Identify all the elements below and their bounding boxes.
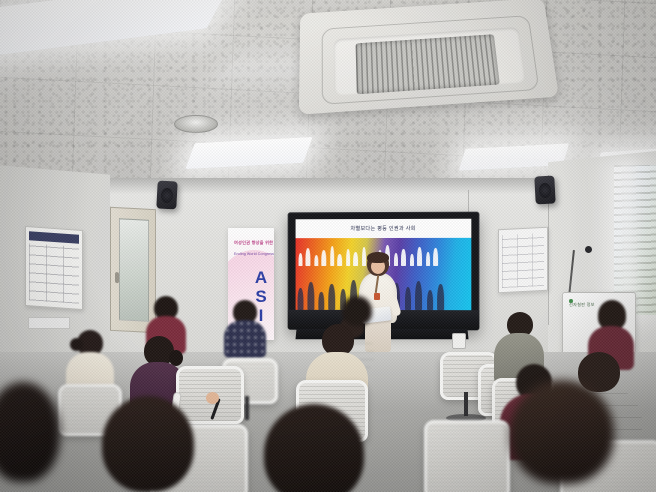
mesh-chair[interactable]: [424, 420, 504, 492]
attendee-polka-dot: [224, 300, 266, 356]
attendee-hair: [102, 396, 194, 492]
banner-korean-text: 여성인권 향상을 위한: [234, 240, 273, 245]
door-handle[interactable]: [115, 272, 119, 283]
attendee-foreground-center: [256, 404, 374, 492]
attendee-hair: [0, 382, 60, 482]
silhouette-figure: [318, 292, 324, 310]
attendee-hair: [342, 296, 372, 326]
notice-table-grid: [502, 233, 544, 288]
silhouette-figure: [415, 281, 422, 310]
recessed-downlight: [174, 115, 218, 133]
presenter-fringe: [367, 252, 389, 263]
silhouette-figure: [337, 254, 342, 266]
ac-grille-icon: [356, 34, 500, 94]
silhouette-figure: [330, 246, 334, 266]
door-glass-panel: [119, 218, 149, 322]
attendee-foreground-right: [496, 380, 616, 492]
information-notice: [498, 227, 548, 294]
banner-english-text: Ending World Congress: [234, 252, 274, 257]
silhouette-figure: [299, 253, 303, 266]
attendee-hand: [206, 392, 219, 404]
silhouette-figure: [314, 255, 318, 266]
attendee-hair: [264, 404, 364, 492]
silhouette-figure: [307, 282, 314, 310]
silhouette-figure: [437, 284, 444, 310]
microphone-icon: [585, 246, 592, 253]
attendee-edge-left: [0, 382, 70, 492]
attendee-foreground-slim: [330, 296, 384, 364]
schedule-poster: [25, 226, 83, 310]
silhouette-figure: [405, 287, 411, 310]
silhouette-figure: [305, 248, 310, 266]
poster-table-grid: [29, 243, 79, 303]
silhouette-figure: [401, 249, 406, 266]
attendee-hair: [510, 380, 614, 484]
seminar-room-photo: 여성인권 향상을 위한 Ending World Congress ASI 차별…: [0, 0, 656, 492]
poster-header-bar: [29, 231, 79, 243]
silhouette-figure: [426, 252, 430, 266]
silhouette-figure: [298, 288, 304, 310]
attendee-clothing: [224, 320, 266, 358]
attendee-foreground-left: [92, 396, 202, 492]
silhouette-figure: [433, 248, 438, 266]
small-notice: [28, 317, 70, 329]
slide-title-bar: 차별보다는 평등 인권과 사회: [296, 219, 472, 238]
power-outlet: [452, 333, 466, 349]
silhouette-figure: [321, 250, 326, 266]
chair-stem: [245, 396, 249, 420]
wall-speaker-icon: [156, 180, 177, 209]
silhouette-figure: [346, 249, 350, 266]
chair-stem: [464, 392, 468, 416]
silhouette-figure: [417, 247, 422, 266]
silhouette-figure: [410, 254, 414, 266]
wall-speaker-icon: [534, 175, 555, 204]
silhouette-figure: [427, 290, 433, 310]
attendee-hair-bun: [70, 338, 83, 351]
slide-title-text: 차별보다는 평등 인권과 사회: [350, 225, 415, 232]
ceiling-air-conditioner: [299, 0, 559, 115]
